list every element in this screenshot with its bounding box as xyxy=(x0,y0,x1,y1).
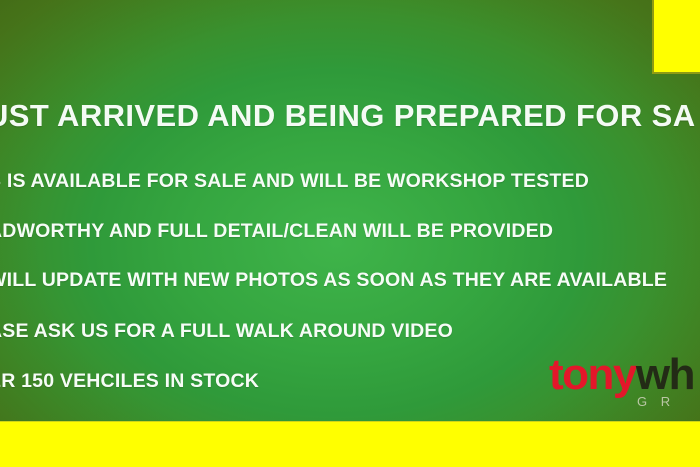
dealer-logo: tonywh G R xyxy=(549,352,700,418)
message-line-2: ADWORTHY AND FULL DETAIL/CLEAN WILL BE P… xyxy=(0,220,700,243)
yellow-accent-block xyxy=(652,0,700,74)
logo-word-primary: tony xyxy=(549,350,636,399)
page-title: UST ARRIVED AND BEING PREPARED FOR SA xyxy=(0,98,700,134)
message-line-4: ASE ASK US FOR A FULL WALK AROUND VIDEO xyxy=(0,320,700,343)
yellow-footer-bar xyxy=(0,421,700,467)
logo-word-secondary: wh xyxy=(636,350,694,399)
logo-wordmark: tonywh xyxy=(549,352,700,398)
message-line-3: WILL UPDATE WITH NEW PHOTOS AS SOON AS T… xyxy=(0,269,700,292)
promo-banner: UST ARRIVED AND BEING PREPARED FOR SA S … xyxy=(0,0,700,467)
message-line-1: S IS AVAILABLE FOR SALE AND WILL BE WORK… xyxy=(0,170,700,193)
